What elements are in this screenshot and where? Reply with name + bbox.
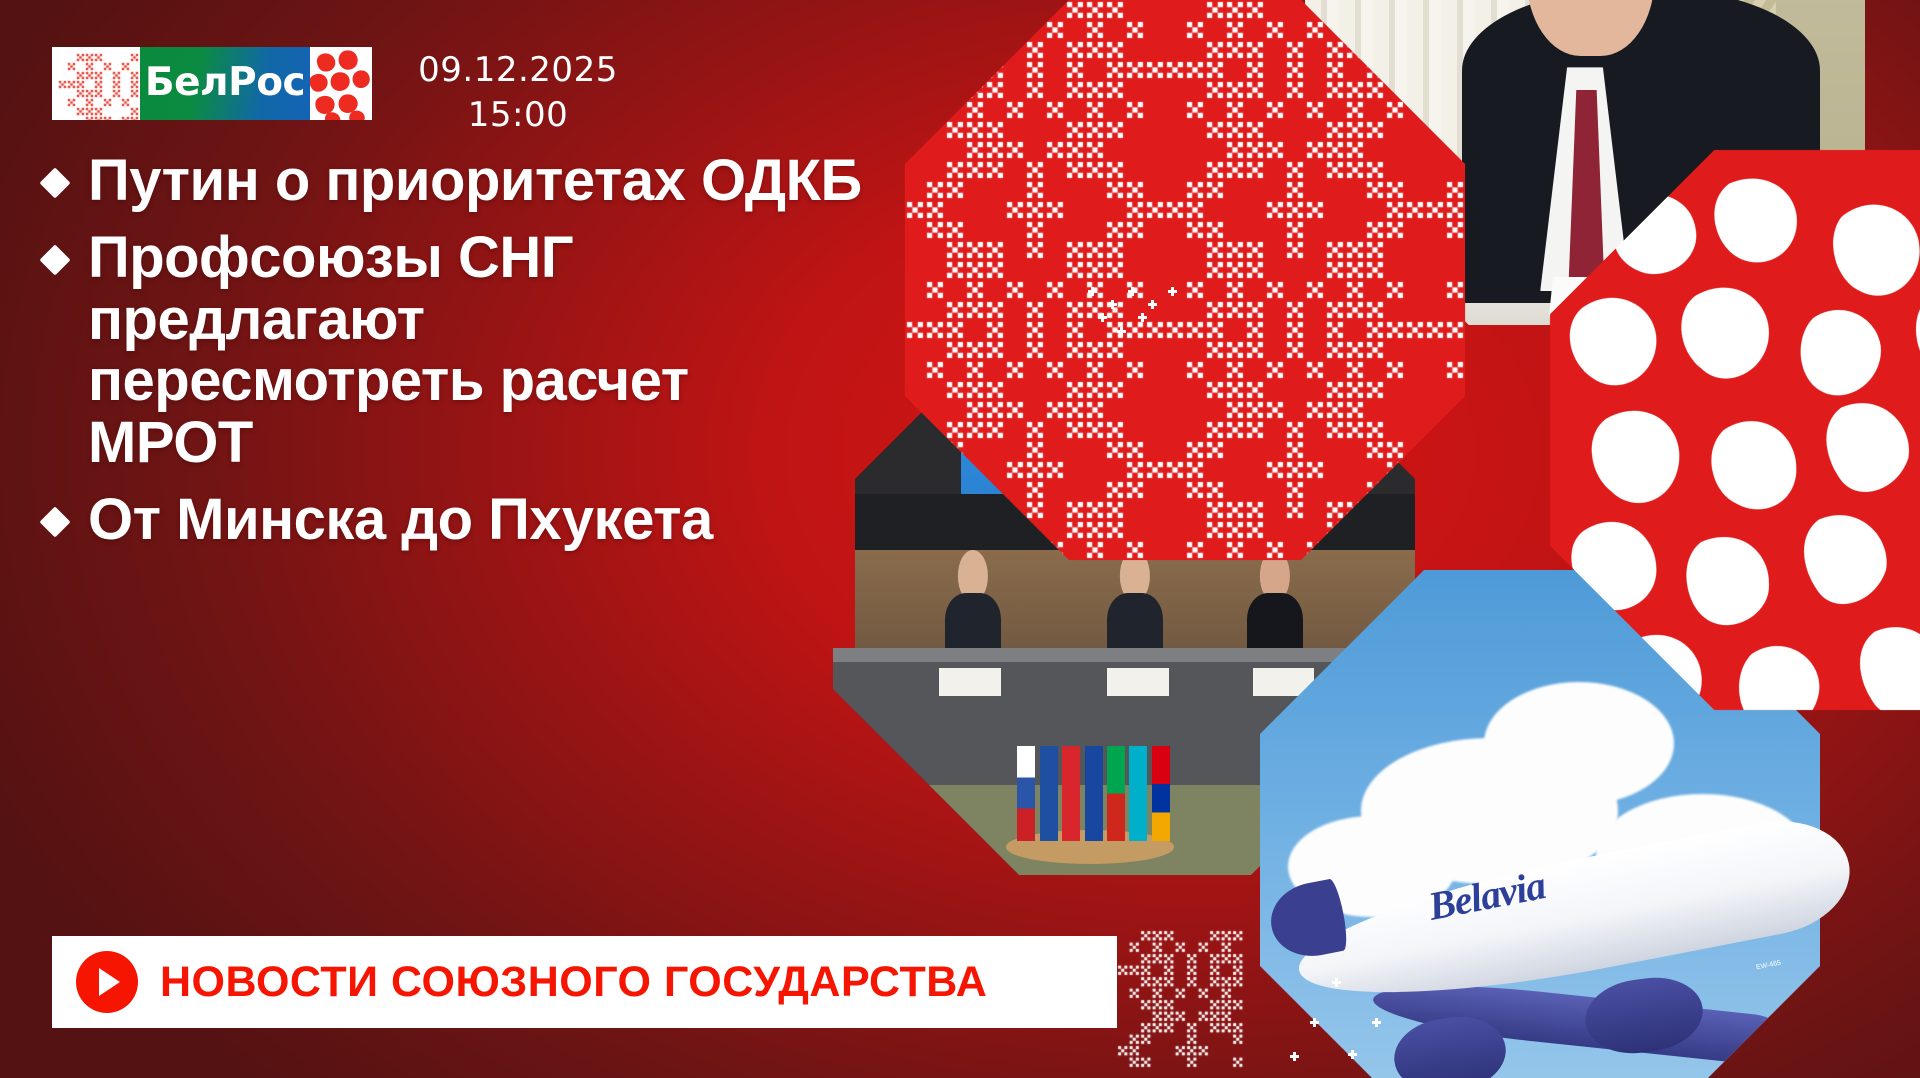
flag-org (1085, 746, 1103, 841)
headline-text: Профсоюзы СНГ предлагают пересмотреть ра… (88, 227, 788, 473)
flag-azerbaijan (1107, 746, 1125, 841)
headline-item[interactable]: От Минска до Пхукета (44, 489, 984, 550)
date-text: 09.12.2025 (398, 48, 638, 93)
datetime-block: 09.12.2025 15:00 (398, 48, 638, 138)
program-title-bar[interactable]: НОВОСТИ СОЮЗНОГО ГОСУДАРСТВА (52, 936, 1117, 1028)
name-card (1107, 668, 1169, 696)
left-content-column: БелРос (0, 0, 1000, 1078)
bar-cross-stitch-ornament (1117, 930, 1247, 1070)
cloud (1484, 682, 1674, 805)
headline-item[interactable]: Путин о приоритетах ОДКБ (44, 150, 984, 211)
program-title: НОВОСТИ СОЮЗНОГО ГОСУДАРСТВА (160, 958, 987, 1007)
headline-list: Путин о приоритетах ОДКБ Профсоюзы СНГ п… (44, 150, 984, 567)
diamond-bullet-icon (39, 245, 70, 276)
headline-text: От Минска до Пхукета (88, 489, 713, 550)
floral-ornament-icon (310, 47, 372, 120)
logo-wordmark: БелРос (140, 47, 310, 120)
cross-stitch-ornament-icon (52, 47, 140, 120)
logo-text: БелРос (145, 63, 305, 102)
headline-item[interactable]: Профсоюзы СНГ предлагают пересмотреть ра… (44, 227, 984, 473)
flag-org (1040, 746, 1058, 841)
time-text: 15:00 (398, 93, 638, 138)
belros-logo[interactable]: БелРос (52, 47, 372, 120)
news-promo-banner: Казахстан Кыргызстан Таджикистан Узбекис… (0, 0, 1920, 1078)
flag-russia (1017, 746, 1035, 841)
play-button-icon[interactable] (76, 951, 138, 1013)
flag-kyrgyzstan (1062, 746, 1080, 841)
flag-kazakhstan (1129, 746, 1147, 841)
registration-code: EW-465 (1755, 960, 1781, 972)
headline-text: Путин о приоритетах ОДКБ (88, 150, 862, 211)
diamond-bullet-icon (39, 167, 70, 198)
diamond-bullet-icon (39, 507, 70, 538)
